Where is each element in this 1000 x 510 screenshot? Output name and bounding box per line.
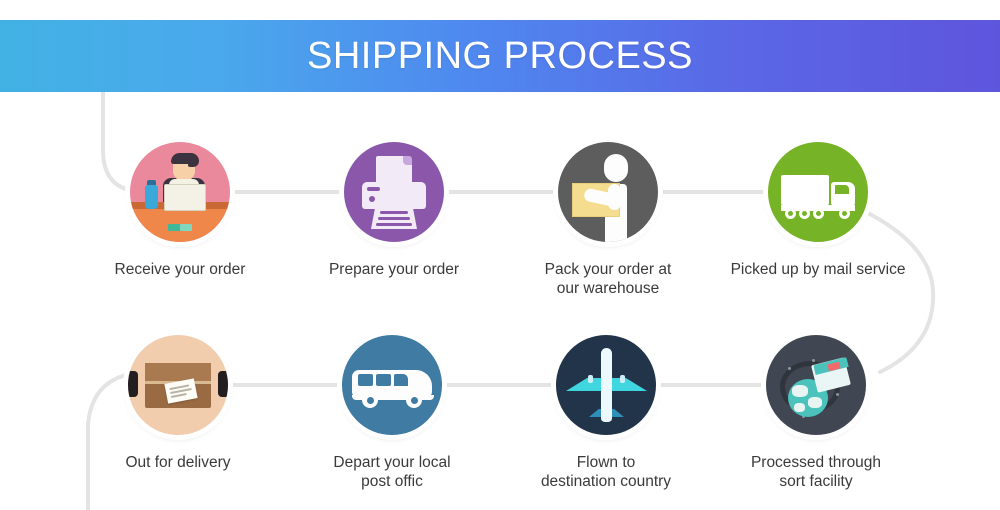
step-2-label: Prepare your order [289,260,499,279]
step-7-label: Flown to destination country [501,453,711,491]
worker-with-box-icon [558,142,658,242]
printer-icon [344,142,444,242]
step-3-label: Pack your order at our warehouse [503,260,713,298]
delivery-van-icon [342,335,442,435]
sort-facility-globe-icon [766,335,866,435]
step-4-picked-up-by-mail-service[interactable]: Picked up by mail service [713,142,923,279]
delivery-truck-icon [768,142,868,242]
step-4-label: Picked up by mail service [713,260,923,279]
header-banner: SHIPPING PROCESS [0,20,1000,92]
step-2-prepare-your-order[interactable]: Prepare your order [289,142,499,279]
step-3-pack-your-order[interactable]: Pack your order at our warehouse [503,142,713,298]
step-8-label: Processed through sort facility [711,453,921,491]
step-6-depart-your-local-post-office[interactable]: Depart your local post offic [287,335,497,491]
step-5-out-for-delivery[interactable]: Out for delivery [73,335,283,472]
step-1-label: Receive your order [75,260,285,279]
step-6-label: Depart your local post offic [287,453,497,491]
page-title: SHIPPING PROCESS [307,35,693,78]
step-5-label: Out for delivery [73,453,283,472]
step-1-receive-your-order[interactable]: Receive your order [75,142,285,279]
airplane-icon [556,335,656,435]
step-7-flown-to-destination-country[interactable]: Flown to destination country [501,335,711,491]
shipping-process-infographic: SHIPPING PROCESS Receive your order [0,0,1000,510]
parcel-box-icon [128,335,228,435]
customer-at-desk-icon [130,142,230,242]
step-8-processed-through-sort-facility[interactable]: Processed through sort facility [711,335,921,491]
